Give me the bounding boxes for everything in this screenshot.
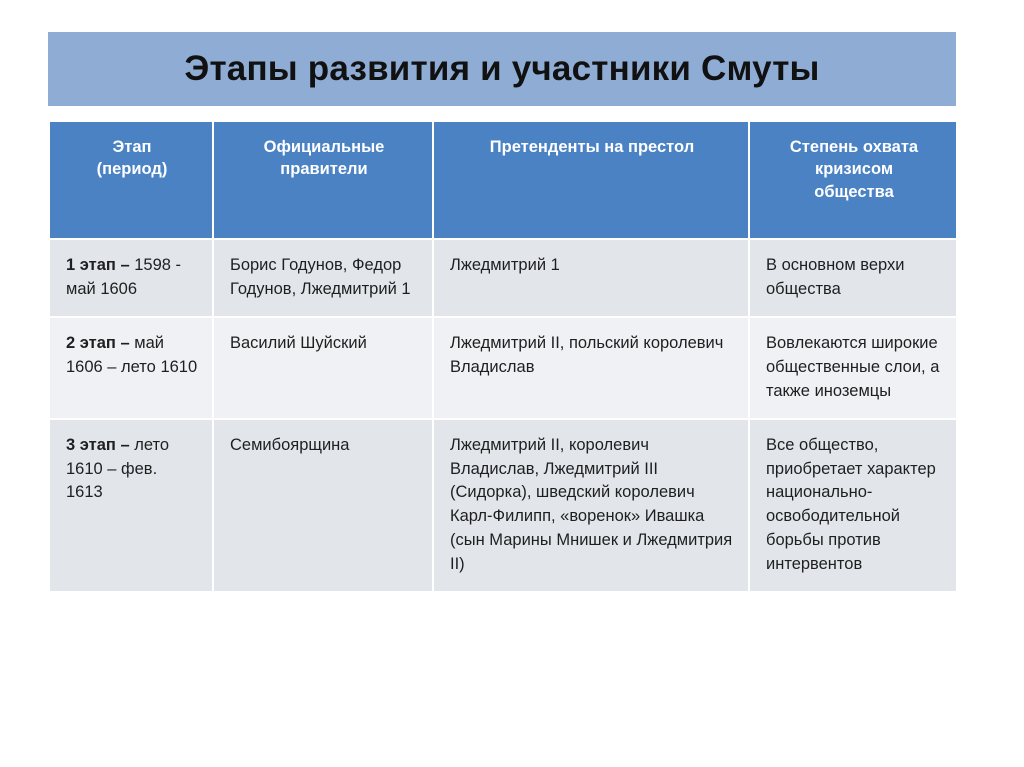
cell-pretenders-3: Лжедмитрий II, королевич Владислав, Лжед… [433,419,749,593]
cell-rulers-1: Борис Годунов, Федор Годунов, Лжедмитрий… [213,239,433,317]
column-header-stage-line1: Этап [66,136,198,158]
table-header: Этап (период) Официальные правители Прет… [49,121,957,239]
cell-rulers-3: Семибоярщина [213,419,433,593]
column-header-rulers-line2: правители [230,158,418,180]
stages-table: Этап (период) Официальные правители Прет… [48,120,958,593]
table-row: 3 этап – лето 1610 – фев. 1613 Семибоярщ… [49,419,957,593]
column-header-pretenders: Претенденты на престол [433,121,749,239]
slide-title-banner: Этапы развития и участники Смуты [48,32,956,106]
table-body: 1 этап – 1598 - май 1606 Борис Годунов, … [49,239,957,592]
cell-crisis-3: Все общество, приобретает характер нацио… [749,419,957,593]
column-header-pretenders-line1: Претенденты на престол [450,136,734,158]
column-header-rulers: Официальные правители [213,121,433,239]
cell-crisis-2: Вовлекаются широкие общественные слои, а… [749,317,957,419]
cell-rulers-2: Василий Шуйский [213,317,433,419]
table-row: 1 этап – 1598 - май 1606 Борис Годунов, … [49,239,957,317]
column-header-crisis-line1: Степень охвата [766,136,942,158]
cell-stage-3: 3 этап – лето 1610 – фев. 1613 [49,419,213,593]
column-header-crisis-scope: Степень охвата кризисом общества [749,121,957,239]
page-title: Этапы развития и участники Смуты [184,49,819,89]
table-header-row: Этап (период) Официальные правители Прет… [49,121,957,239]
column-header-rulers-line1: Официальные [230,136,418,158]
stage-3-name: 3 этап – [66,436,134,454]
cell-stage-2: 2 этап – май 1606 – лето 1610 [49,317,213,419]
column-header-crisis-line2: кризисом [766,158,942,180]
cell-crisis-1: В основном верхи общества [749,239,957,317]
stage-2-name: 2 этап – [66,334,134,352]
cell-pretenders-2: Лжедмитрий II, польский королевич Владис… [433,317,749,419]
cell-pretenders-1: Лжедмитрий 1 [433,239,749,317]
table-row: 2 этап – май 1606 – лето 1610 Василий Шу… [49,317,957,419]
column-header-stage: Этап (период) [49,121,213,239]
column-header-crisis-line3: общества [766,181,942,203]
column-header-stage-line2: (период) [66,158,198,180]
stage-1-name: 1 этап – [66,256,134,274]
slide-canvas: Этапы развития и участники Смуты Этап (п… [0,0,1024,767]
cell-stage-1: 1 этап – 1598 - май 1606 [49,239,213,317]
